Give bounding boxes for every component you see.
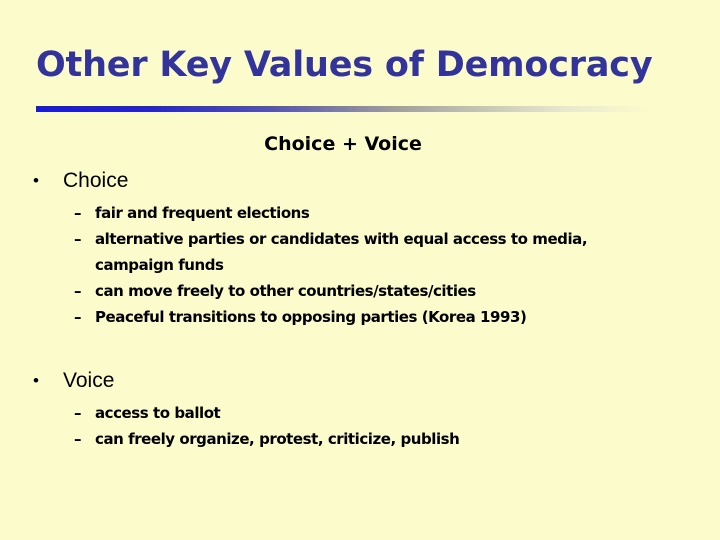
- sub-bullet-item: – fair and frequent elections: [0, 200, 720, 226]
- dash-marker-icon: –: [74, 304, 81, 330]
- sub-bullet-list-voice: – access to ballot – can freely organize…: [0, 400, 720, 452]
- slide: Other Key Values of Democracy Choice + V…: [0, 0, 720, 540]
- slide-body: • Choice – fair and frequent elections –…: [0, 166, 720, 452]
- slide-title: Other Key Values of Democracy: [36, 44, 684, 86]
- bullet-item-choice: • Choice: [0, 166, 720, 196]
- bullet-label-choice: Choice: [63, 169, 128, 192]
- bullet-group-choice: • Choice – fair and frequent elections –…: [0, 166, 720, 330]
- dash-marker-icon: –: [74, 278, 81, 304]
- dash-marker-icon: –: [74, 200, 81, 226]
- sub-bullet-item: – Peaceful transitions to opposing parti…: [0, 304, 720, 330]
- dash-marker-icon: –: [74, 226, 81, 252]
- sub-bullet-text: can move freely to other countries/state…: [95, 282, 476, 300]
- sub-bullet-text: alternative parties or candidates with e…: [95, 230, 587, 274]
- sub-bullet-item: – can freely organize, protest, criticiz…: [0, 426, 720, 452]
- sub-bullet-list-choice: – fair and frequent elections – alternat…: [0, 200, 720, 330]
- sub-bullet-text: access to ballot: [95, 404, 220, 422]
- title-divider-rule: [36, 106, 650, 112]
- bullet-marker-icon: •: [33, 366, 39, 396]
- bullet-marker-icon: •: [33, 166, 39, 196]
- sub-bullet-item: – access to ballot: [0, 400, 720, 426]
- sub-bullet-item: – alternative parties or candidates with…: [0, 226, 720, 278]
- dash-marker-icon: –: [74, 400, 81, 426]
- bullet-item-voice: • Voice: [0, 366, 720, 396]
- dash-marker-icon: –: [74, 426, 81, 452]
- bullet-group-voice: • Voice – access to ballot – can freely …: [0, 366, 720, 452]
- slide-subtitle: Choice + Voice: [36, 132, 650, 156]
- bullet-label-voice: Voice: [63, 369, 114, 392]
- sub-bullet-text: fair and frequent elections: [95, 204, 309, 222]
- sub-bullet-text: Peaceful transitions to opposing parties…: [95, 308, 526, 326]
- sub-bullet-text: can freely organize, protest, criticize,…: [95, 430, 459, 448]
- sub-bullet-item: – can move freely to other countries/sta…: [0, 278, 720, 304]
